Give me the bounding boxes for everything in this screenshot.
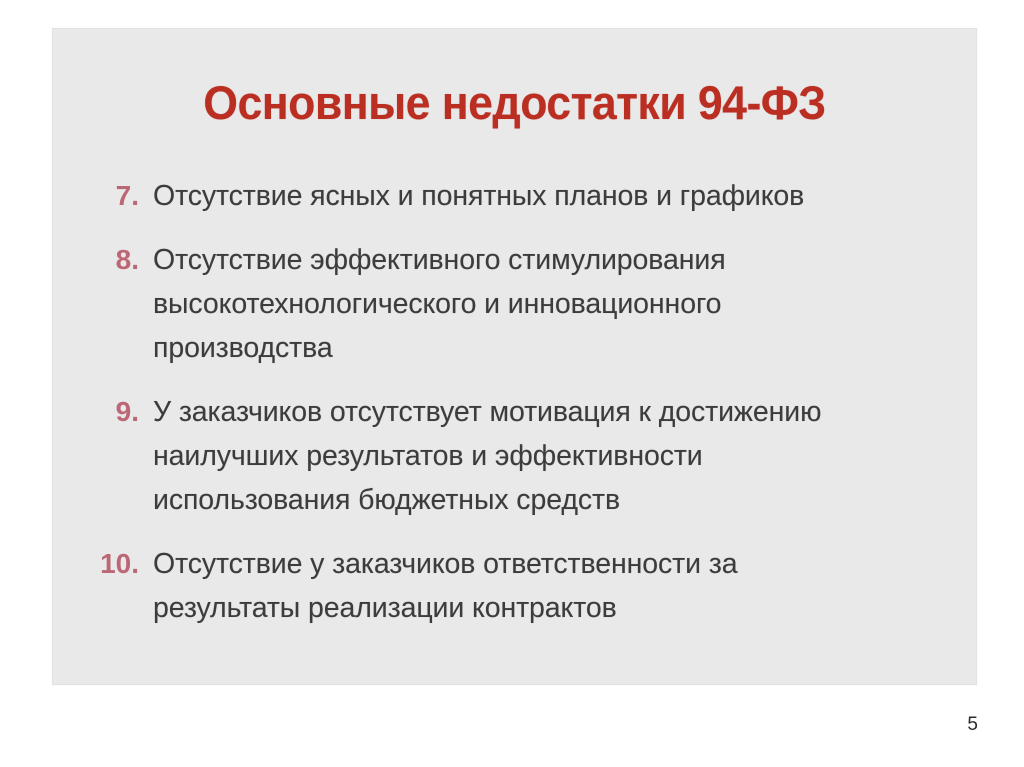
list-item-number: 9. [77, 390, 153, 434]
list-item: 9. У заказчиков отсутствует мотивация к … [77, 390, 952, 522]
list-item-text: Отсутствие эффективного стимулирования в… [153, 238, 952, 370]
list-item-line: производства [153, 326, 952, 370]
list-item-line: Отсутствие у заказчиков ответственности … [153, 542, 952, 586]
list-item-number: 7. [77, 174, 153, 218]
list-item-text: Отсутствие ясных и понятных планов и гра… [153, 174, 952, 218]
list-item-text: У заказчиков отсутствует мотивация к дос… [153, 390, 952, 522]
list-item-number: 8. [77, 238, 153, 282]
list-item-line: высокотехнологического и инновационного [153, 282, 952, 326]
slide-panel: Основные недостатки 94-ФЗ 7. Отсутствие … [52, 28, 977, 685]
list-item-line: результаты реализации контрактов [153, 586, 952, 630]
list-item-line: Отсутствие эффективного стимулирования [153, 238, 952, 282]
list-item: 10. Отсутствие у заказчиков ответственно… [77, 542, 952, 630]
bullet-list: 7. Отсутствие ясных и понятных планов и … [77, 174, 952, 630]
list-item-line: наилучших результатов и эффективности [153, 434, 952, 478]
page-number: 5 [967, 715, 978, 734]
list-item-line: У заказчиков отсутствует мотивация к дос… [153, 390, 952, 434]
page-title: Основные недостатки 94-ФЗ [76, 79, 953, 126]
list-item-line: Отсутствие ясных и понятных планов и гра… [153, 174, 952, 218]
list-item-number: 10. [77, 542, 153, 586]
list-item-line: использования бюджетных средств [153, 478, 952, 522]
list-item: 8. Отсутствие эффективного стимулировани… [77, 238, 952, 370]
list-item: 7. Отсутствие ясных и понятных планов и … [77, 174, 952, 218]
list-item-text: Отсутствие у заказчиков ответственности … [153, 542, 952, 630]
